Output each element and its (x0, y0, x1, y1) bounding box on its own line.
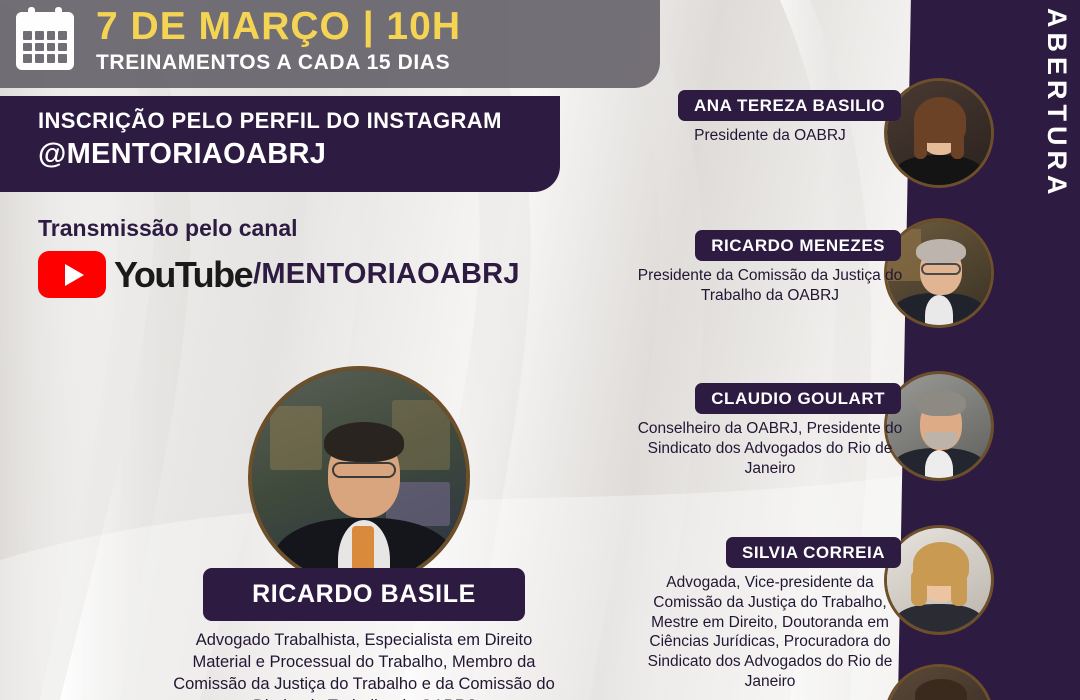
main-speaker-name-plate: RICARDO BASILE (203, 568, 525, 621)
date-banner: 7 DE MARÇO | 10H TREINAMENTOS A CADA 15 … (0, 0, 660, 88)
portrait-speaker-5 (884, 664, 994, 700)
speaker-4-name: SILVIA CORREIA (742, 543, 885, 563)
youtube-broadcast-block: Transmissão pelo canal YouTube /MENTORIA… (38, 215, 508, 298)
speaker-2-name-plate: RICARDO MENEZES (695, 230, 901, 261)
speaker-1-name-plate: ANA TEREZA BASILIO (678, 90, 901, 121)
instagram-signup-block: INSCRIÇÃO PELO PERFIL DO INSTAGRAM @MENT… (0, 96, 560, 192)
event-poster: ABERTURA 7 DE MARÇO | 10H TREINAMENTOS A… (0, 0, 1080, 700)
instagram-instruction: INSCRIÇÃO PELO PERFIL DO INSTAGRAM (38, 108, 560, 134)
speaker-3-name-plate: CLAUDIO GOULART (695, 383, 901, 414)
speaker-1-role: Presidente da OABRJ (634, 126, 906, 146)
speaker-2-name: RICARDO MENEZES (711, 236, 885, 256)
speaker-3-role: Conselheiro da OABRJ, Presidente do Sind… (634, 419, 906, 478)
portrait-ricardo-basile (248, 366, 470, 588)
main-speaker-name: RICARDO BASILE (252, 580, 476, 609)
broadcast-label: Transmissão pelo canal (38, 215, 508, 242)
speaker-2-role: Presidente da Comissão da Justiça do Tra… (634, 266, 906, 306)
event-frequency: TREINAMENTOS A CADA 15 DIAS (96, 51, 461, 75)
instagram-handle[interactable]: @MENTORIAOABRJ (38, 138, 560, 171)
youtube-brand: YouTube (114, 254, 252, 296)
youtube-handle[interactable]: /MENTORIAOABRJ (253, 258, 520, 291)
speaker-4-name-plate: SILVIA CORREIA (726, 537, 901, 568)
calendar-icon (16, 12, 74, 70)
speaker-4-role: Advogada, Vice-presidente da Comissão da… (634, 573, 906, 692)
main-speaker-bio: Advogado Trabalhista, Especialista em Di… (168, 630, 560, 700)
speaker-3-name: CLAUDIO GOULART (711, 389, 885, 409)
event-date: 7 DE MARÇO | 10H (96, 7, 461, 47)
youtube-play-icon[interactable] (38, 251, 106, 298)
speaker-1-name: ANA TEREZA BASILIO (694, 96, 885, 116)
